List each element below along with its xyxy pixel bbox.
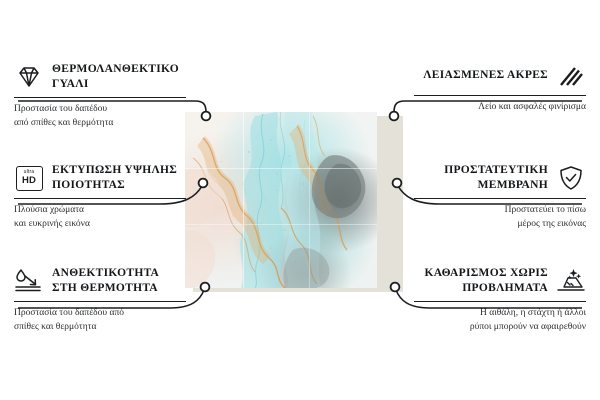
feature-title: ΕΚΤΥΠΩΣΗ ΥΨΗΛΗΣ ΠΟΙΟΤΗΤΑΣ bbox=[52, 163, 186, 193]
feature-subtitle: Προστασία του δαπέδουαπό σπίθες και θερμ… bbox=[14, 103, 186, 131]
shield-check-icon bbox=[556, 164, 586, 192]
feature-heat-durability: ΑΝΘΕΚΤΙΚΟΤΗΤΑ ΣΤΗ ΘΕΡΜΟΤΗΤΑ Προστασία το… bbox=[14, 266, 186, 335]
feature-title: ΑΝΘΕΚΤΙΚΟΤΗΤΑ ΣΤΗ ΘΕΡΜΟΤΗΤΑ bbox=[52, 266, 186, 296]
divider bbox=[414, 95, 586, 96]
divider bbox=[14, 198, 186, 199]
feature-high-quality-print: ultra HD ΕΚΤΥΠΩΣΗ ΥΨΗΛΗΣ ΠΟΙΟΤΗΤΑΣ Πλούσ… bbox=[14, 163, 186, 232]
feature-subtitle: Προστασία του δαπέδου απόσπίθες και θερμ… bbox=[14, 307, 186, 335]
feature-title: ΛΕΙΑΣΜΕΝΕΣ ΑΚΡΕΣ bbox=[423, 68, 548, 83]
feature-thermal-resistant-glass: ΘΕΡΜΟΛΑΝΘΕΚΤΙΚΟ ΓΥΑΛΙ Προστασία του δαπέ… bbox=[14, 62, 186, 131]
ultra-hd-icon: ultra HD bbox=[14, 164, 44, 192]
feature-subtitle: Πλούσια χρώματακαι ευκρινής εικόνα bbox=[14, 204, 186, 232]
divider bbox=[414, 198, 586, 199]
sanded-edge-icon bbox=[556, 62, 586, 90]
feature-subtitle: Λείο και ασφαλές φινίρισμα bbox=[414, 101, 586, 115]
flame-arrow-icon bbox=[14, 267, 44, 295]
feature-polished-edges: ΛΕΙΑΣΜΕΝΕΣ ΑΚΡΕΣ Λείο και ασφαλές φινίρι… bbox=[414, 62, 586, 115]
feature-easy-cleaning: ΚΑΘΑΡΙΣΜΟΣ ΧΩΡΙΣ ΠΡΟΒΛΗΜΑΤΑ bbox=[414, 266, 586, 335]
diamond-icon bbox=[14, 63, 44, 91]
feature-title: ΚΑΘΑΡΙΣΜΟΣ ΧΩΡΙΣ ΠΡΟΒΛΗΜΑΤΑ bbox=[414, 266, 548, 296]
feature-protective-membrane: ΠΡΟΣΤΑΤΕΥΤΙΚΗ ΜΕΜΒΡΑΝΗ Προστατεύει το πί… bbox=[414, 163, 586, 232]
sparkle-cloth-icon bbox=[556, 267, 586, 295]
divider bbox=[14, 97, 186, 98]
infographic-canvas: ΘΕΡΜΟΛΑΝΘΕΚΤΙΚΟ ΓΥΑΛΙ Προστασία του δαπέ… bbox=[0, 0, 600, 400]
feature-subtitle: Προστατεύει το πίσωμέρος της εικόνας bbox=[414, 204, 586, 232]
feature-subtitle: Η αιθάλη, η στάχτη ή άλλοιρύποι μπορούν … bbox=[414, 307, 586, 335]
feature-title: ΠΡΟΣΤΑΤΕΥΤΙΚΗ ΜΕΜΒΡΑΝΗ bbox=[414, 163, 548, 193]
divider bbox=[414, 301, 586, 302]
divider bbox=[14, 301, 186, 302]
feature-title: ΘΕΡΜΟΛΑΝΘΕΚΤΙΚΟ ΓΥΑΛΙ bbox=[52, 62, 186, 92]
